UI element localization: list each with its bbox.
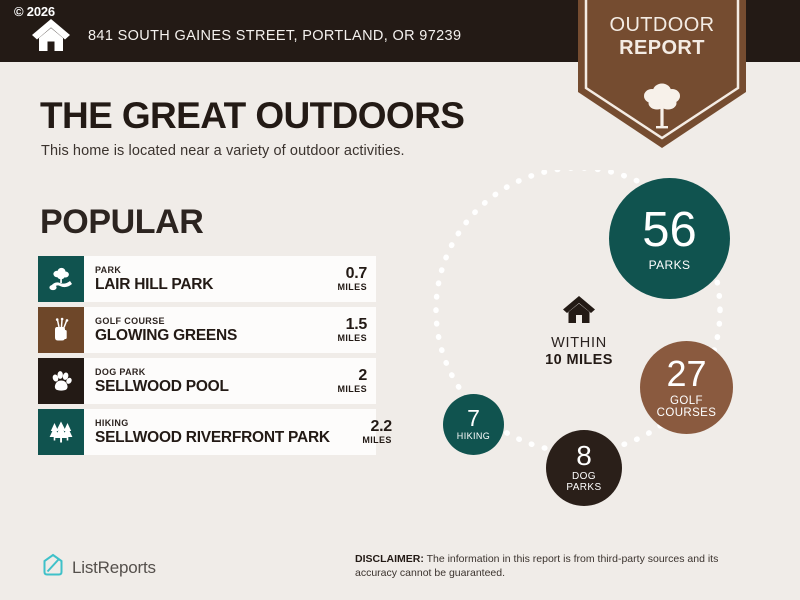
house-icon: [31, 18, 71, 52]
property-address: 841 SOUTH GAINES STREET, PORTLAND, OR 97…: [88, 28, 461, 44]
badge-title: OUTDOOR REPORT: [578, 14, 746, 60]
distance-unit: MILES: [337, 282, 367, 293]
bubble-value: 56: [642, 206, 697, 255]
distance-value: 1.5: [346, 316, 367, 333]
list-item-distance: 2.2 MILES: [330, 409, 401, 455]
list-item[interactable]: DOG PARK SELLWOOD POOL 2 MILES: [38, 358, 376, 404]
house-icon: [516, 295, 642, 329]
list-item-name: SELLWOOD POOL: [95, 378, 305, 396]
list-item[interactable]: PARK LAIR HILL PARK 0.7 MILES: [38, 256, 376, 302]
bubble-hiking[interactable]: 7 HIKING: [443, 394, 504, 455]
pine-trees-icon: [38, 409, 84, 455]
badge-line2: REPORT: [578, 37, 746, 60]
distance-unit: MILES: [337, 333, 367, 344]
golf-bag-icon: [38, 307, 84, 353]
disclaimer: DISCLAIMER: The information in this repo…: [355, 552, 745, 580]
bubble-label: HIKING: [457, 432, 490, 442]
bubble-value: 27: [666, 356, 706, 392]
outdoor-report-infographic: © 2026 841 SOUTH GAINES STREET, PORTLAND…: [0, 0, 800, 600]
list-item-distance: 1.5 MILES: [305, 307, 376, 353]
list-item-category: GOLF COURSE: [95, 316, 305, 327]
popular-list: PARK LAIR HILL PARK 0.7 MILES: [38, 256, 376, 460]
distance-unit: MILES: [337, 384, 367, 395]
bubble-label: GOLF COURSES: [657, 395, 717, 420]
list-item-text: HIKING SELLWOOD RIVERFRONT PARK: [84, 409, 330, 455]
list-item-distance: 0.7 MILES: [305, 256, 376, 302]
center-line1: WITHIN: [516, 335, 642, 352]
list-item-text: DOG PARK SELLWOOD POOL: [84, 358, 305, 404]
page-title: THE GREAT OUTDOORS: [40, 95, 464, 137]
bubble-label-line2: COURSES: [657, 407, 717, 419]
outdoor-report-badge: OUTDOOR REPORT: [578, 0, 746, 156]
bubble-label-line1: GOLF: [657, 395, 717, 407]
list-item-distance: 2 MILES: [305, 358, 376, 404]
paw-icon: [38, 358, 84, 404]
list-item-name: GLOWING GREENS: [95, 327, 305, 345]
listreports-logo[interactable]: ListReports: [42, 553, 156, 582]
list-item-text: PARK LAIR HILL PARK: [84, 256, 305, 302]
list-item-name: LAIR HILL PARK: [95, 276, 305, 294]
listreports-logo-text: ListReports: [72, 558, 156, 578]
chart-center-label: WITHIN 10 MILES: [516, 295, 642, 369]
bubble-dog-parks[interactable]: 8 DOG PARKS: [546, 430, 622, 506]
bubble-value: 7: [467, 407, 480, 430]
within-10-miles-bubble-chart: WITHIN 10 MILES 56 PARKS 27 GOLF COURSES…: [418, 170, 800, 520]
page-subtitle: This home is located near a variety of o…: [41, 143, 405, 159]
copyright-label: © 2026: [14, 4, 55, 19]
distance-value: 2: [358, 367, 367, 384]
listreports-house-icon: [42, 553, 64, 582]
list-item-category: HIKING: [95, 418, 330, 429]
list-item-name: SELLWOOD RIVERFRONT PARK: [95, 429, 330, 447]
list-item-category: DOG PARK: [95, 367, 305, 378]
badge-line1: OUTDOOR: [578, 14, 746, 37]
bubble-parks[interactable]: 56 PARKS: [609, 178, 730, 299]
distance-unit: MILES: [362, 435, 392, 446]
bubble-value: 8: [576, 442, 592, 470]
center-line2: 10 MILES: [516, 352, 642, 369]
distance-value: 2.2: [370, 418, 391, 435]
bubble-label-line2: PARKS: [566, 483, 601, 494]
bubble-golf-courses[interactable]: 27 GOLF COURSES: [640, 341, 733, 434]
park-icon: [38, 256, 84, 302]
list-item[interactable]: HIKING SELLWOOD RIVERFRONT PARK 2.2 MILE…: [38, 409, 376, 455]
list-item-category: PARK: [95, 265, 305, 276]
list-item-text: GOLF COURSE GLOWING GREENS: [84, 307, 305, 353]
bubble-label: DOG PARKS: [566, 472, 601, 494]
list-item[interactable]: GOLF COURSE GLOWING GREENS 1.5 MILES: [38, 307, 376, 353]
popular-heading: POPULAR: [40, 203, 203, 242]
bubble-label: PARKS: [649, 259, 691, 272]
distance-value: 0.7: [346, 265, 367, 282]
disclaimer-label: DISCLAIMER:: [355, 553, 424, 565]
